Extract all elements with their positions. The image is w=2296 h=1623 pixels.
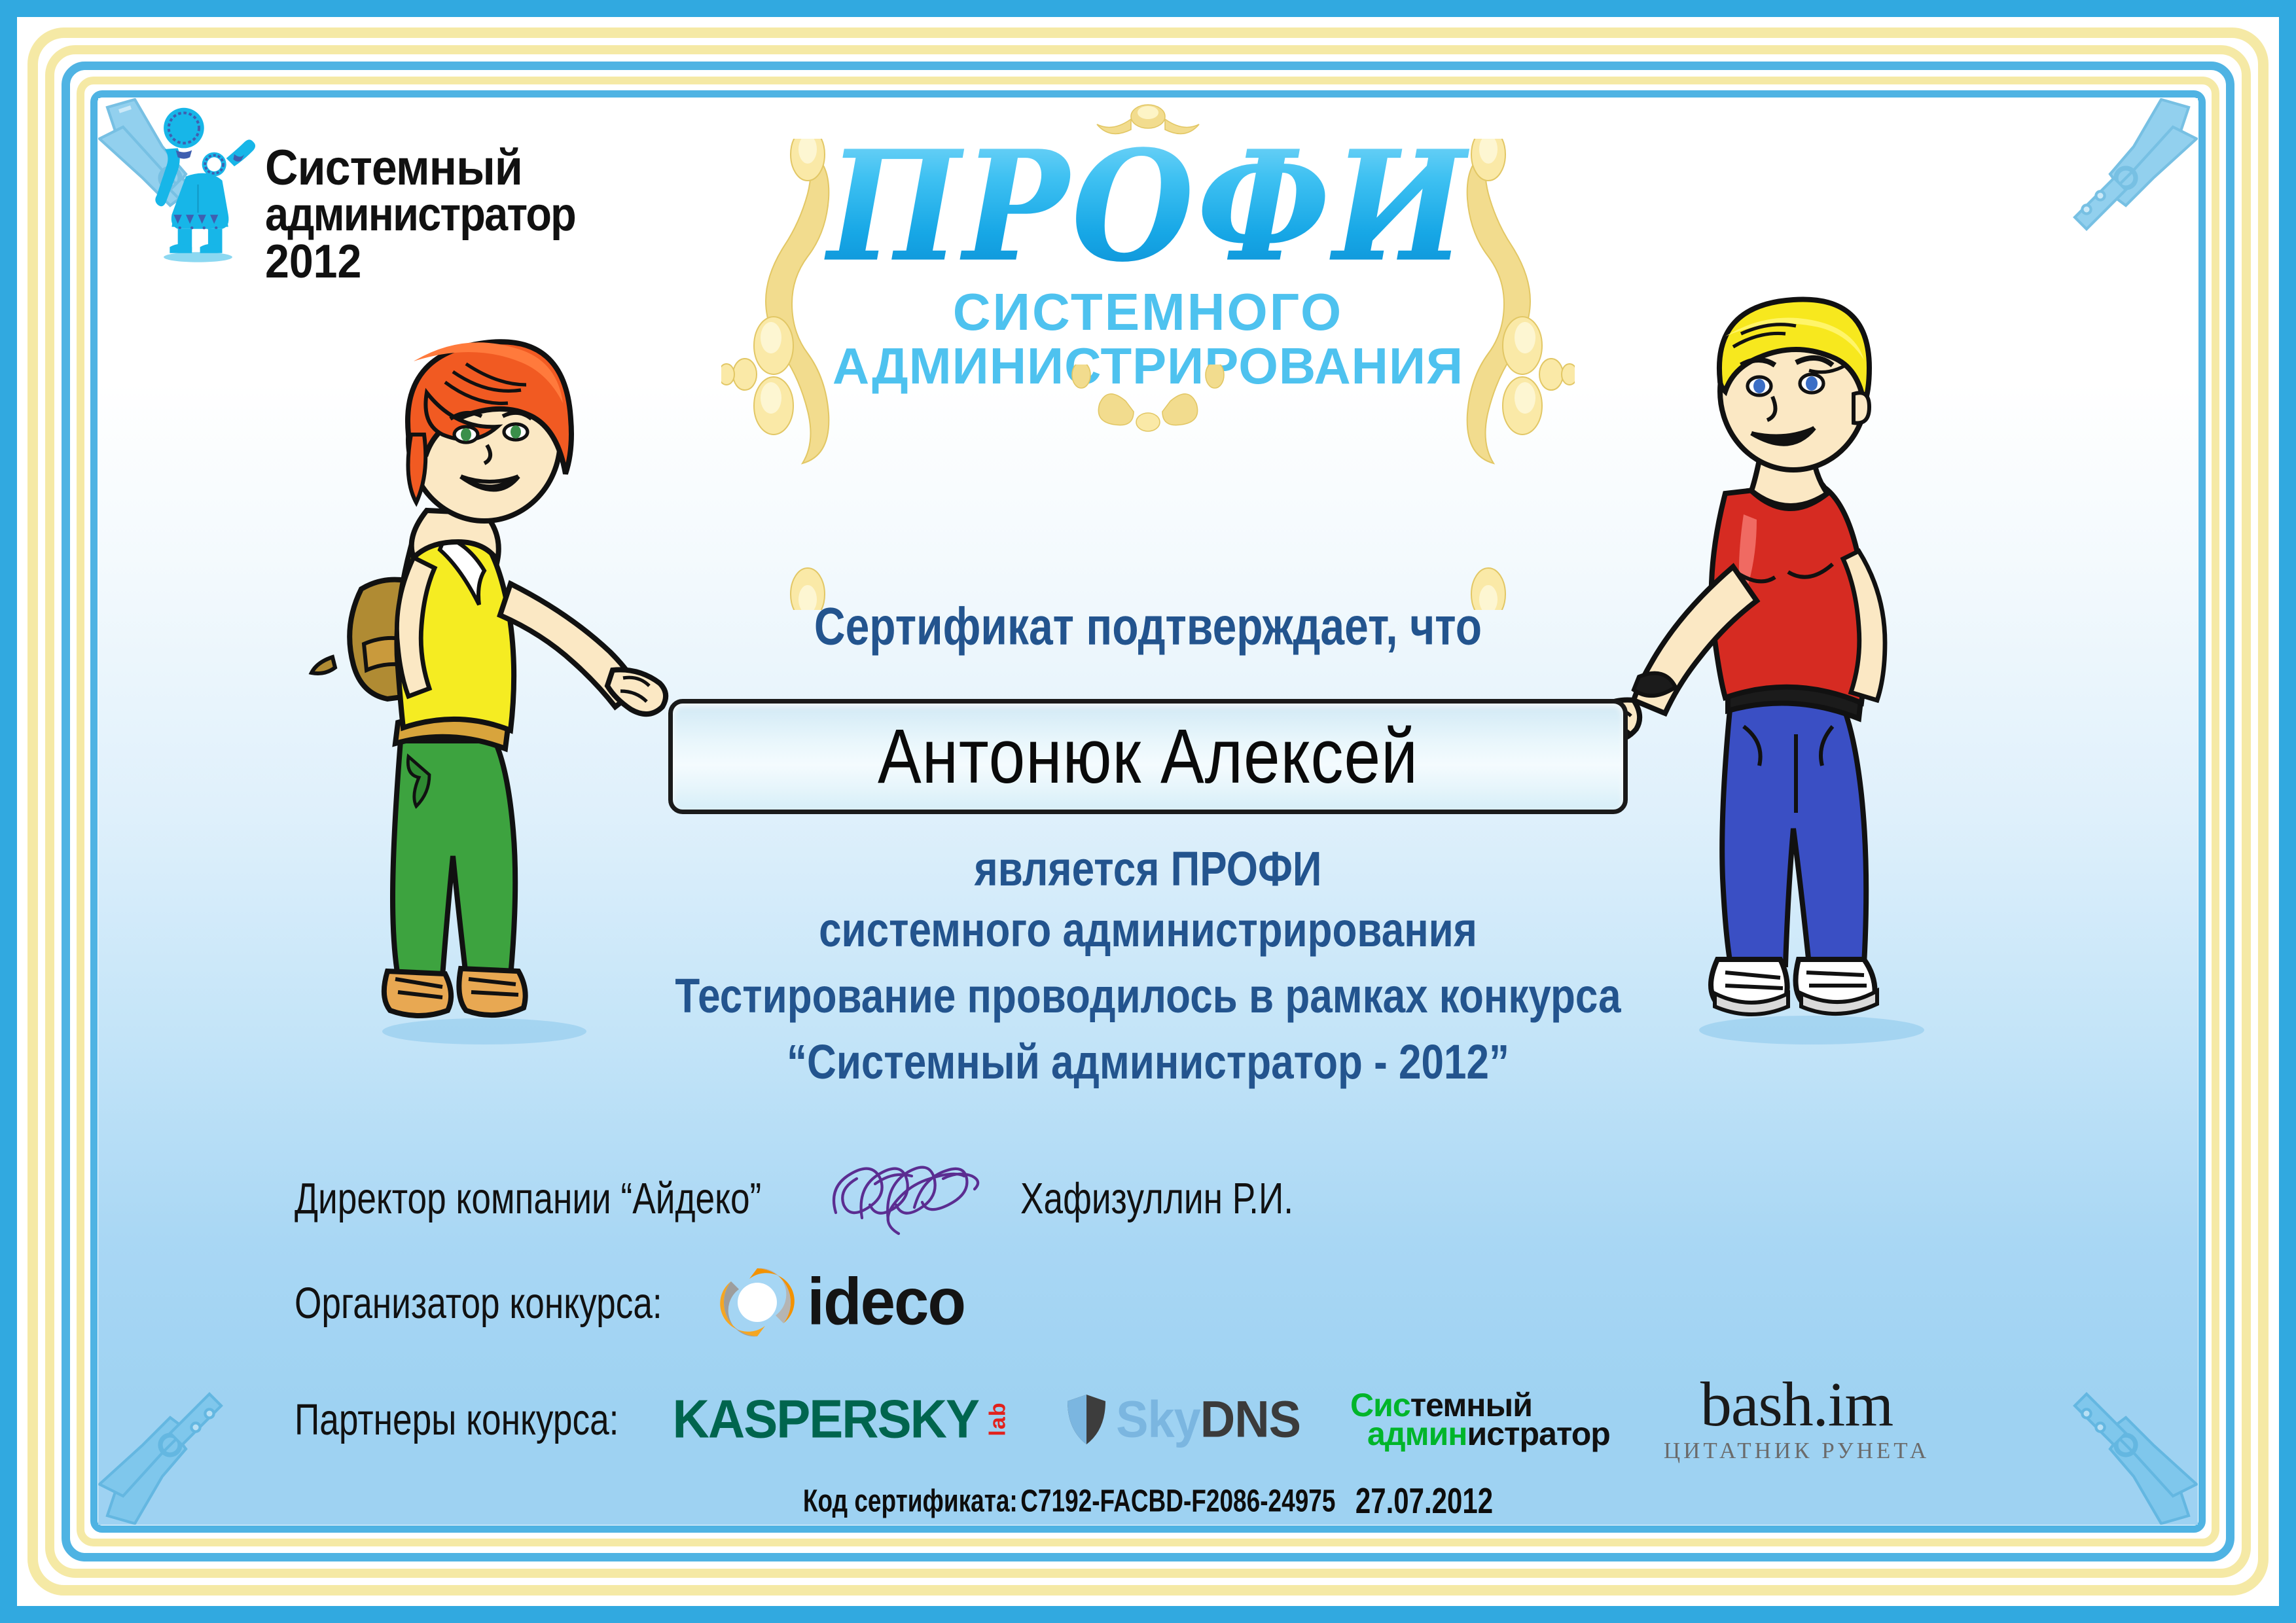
bashim-logo[interactable]: bash.im ЦИТАТНИК РУНЕТА — [1664, 1374, 1929, 1464]
code-label: Код сертификата: — [803, 1484, 1018, 1520]
sysadmin-logo-part-3: админ — [1367, 1416, 1467, 1452]
issue-date: 27.07.2012 — [1355, 1481, 1493, 1522]
sysadmin-brand-logo: Системный администратор 2012 — [137, 105, 610, 285]
organizer-label: Организатор конкурса: — [295, 1277, 662, 1328]
sysadmin-magazine-logo[interactable]: Системный администратор — [1350, 1391, 1610, 1448]
body-line-2: системного администрирования — [98, 902, 2198, 958]
certificate-code-row: Код сертификата: C7192-FACBD-F2086-24975… — [98, 1486, 2198, 1517]
partner-logos-group: KASPERSKY lab Sky DNS Системный — [673, 1374, 1930, 1464]
skydns-logo[interactable]: Sky DNS — [1066, 1391, 1300, 1447]
recipient-name-plate[interactable]: Антонюк Алексей — [668, 699, 1628, 814]
kaspersky-lab-logo[interactable]: KASPERSKY lab — [673, 1389, 1016, 1449]
kaspersky-wordmark: KASPERSKY — [673, 1387, 978, 1450]
sysadmin-logo-part-4: истратор — [1467, 1416, 1610, 1452]
dns-wordmark: DNS — [1200, 1390, 1300, 1449]
recipient-name: Антонюк Алексей — [878, 712, 1418, 801]
brand-line-3: 2012 — [265, 238, 582, 285]
shield-icon — [1066, 1393, 1107, 1446]
partners-label: Партнеры конкурса: — [295, 1394, 619, 1445]
certificate-body: является ПРОФИ системного администрирова… — [98, 842, 2198, 1081]
ideco-logo-icon — [718, 1263, 797, 1342]
profi-title-block: ПРОФИ СИСТЕМНОГО АДМИНИСТРИРОВАНИЯ — [736, 106, 1560, 393]
director-role-label: Директор компании “Айдеко” — [295, 1172, 761, 1223]
sysadmin-mascot-icon — [137, 105, 259, 268]
crimping-pliers-icon — [2016, 98, 2198, 284]
ideco-logo[interactable]: ideco — [718, 1263, 965, 1342]
code-value: C7192-FACBD-F2086-24975 — [1020, 1484, 1335, 1520]
body-line-4: “Системный администратор - 2012” — [98, 1035, 2198, 1090]
confirm-statement: Сертификат подтверждает, что — [98, 596, 2198, 656]
sysadmin-brand-text: Системный администратор 2012 — [265, 105, 610, 285]
partners-row: Партнеры конкурса: KASPERSKY lab Sky DNS — [295, 1374, 1929, 1464]
bashim-tagline: ЦИТАТНИК РУНЕТА — [1664, 1438, 1929, 1464]
profi-subtitle-2: АДМИНИСТРИРОВАНИЯ — [736, 340, 1560, 393]
kaspersky-lab-mark: lab — [986, 1402, 1011, 1436]
profi-title: ПРОФИ — [736, 99, 1560, 285]
body-line-1: является ПРОФИ — [98, 842, 2198, 897]
body-line-3: Тестирование проводилось в рамках конкур… — [98, 969, 2198, 1024]
certificate-page: Системный администратор 2012 — [0, 0, 2296, 1623]
brand-line-1: Системный — [265, 145, 582, 191]
brand-line-2: администратор — [265, 191, 575, 238]
handwritten-signature-icon — [817, 1155, 994, 1240]
organizer-row: Организатор конкурса: ideco — [295, 1263, 965, 1342]
signer-name: Хафизуллин Р.И. — [1020, 1172, 1293, 1223]
certificate-canvas: Системный администратор 2012 — [98, 98, 2198, 1525]
bashim-wordmark: bash.im — [1664, 1374, 1929, 1434]
signature-row: Директор компании “Айдеко” Хафизуллин Р.… — [295, 1155, 1308, 1240]
ideco-wordmark: ideco — [807, 1264, 965, 1340]
sky-wordmark: Sky — [1116, 1390, 1200, 1449]
